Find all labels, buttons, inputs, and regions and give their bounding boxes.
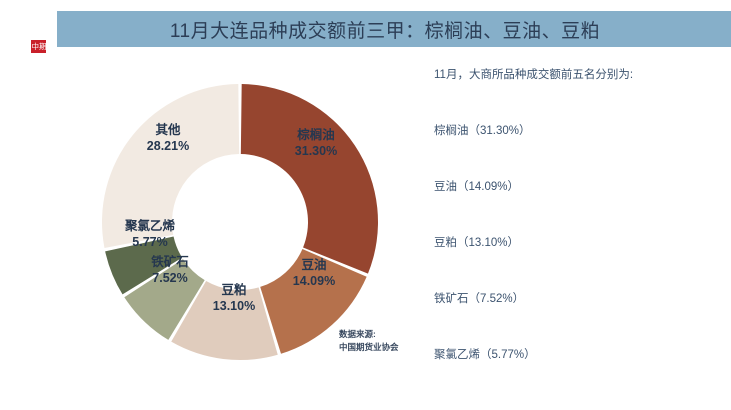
source-note-line1: 数据来源: bbox=[339, 328, 399, 341]
summary-item-pvc: 聚氯乙烯（5.77%） bbox=[434, 346, 714, 362]
donut-chart-svg bbox=[88, 72, 408, 372]
summary-item-iron-ore: 铁矿石（7.52%） bbox=[434, 290, 714, 306]
summary-item-soybean-meal: 豆粕（13.10%） bbox=[434, 234, 714, 250]
donut-slice bbox=[241, 84, 378, 274]
donut-slice-group bbox=[102, 84, 378, 360]
summary-item-soybean-oil: 豆油（14.09%） bbox=[434, 178, 714, 194]
brand-logo-icon: 中期 bbox=[30, 39, 47, 54]
source-note: 数据来源: 中国期货业协会 bbox=[339, 328, 399, 354]
page-title: 11月大连品种成交额前三甲：棕榈油、豆油、豆粕 bbox=[170, 16, 600, 43]
donut-slice bbox=[102, 84, 239, 248]
summary-text-panel: 11月，大商所品种成交额前五名分别为: 棕榈油（31.30%） 豆油（14.09… bbox=[434, 66, 714, 362]
brand-logo-glyphs: 中期 bbox=[31, 43, 46, 50]
summary-intro: 11月，大商所品种成交额前五名分别为: bbox=[434, 66, 714, 82]
donut-chart: 棕榈油 31.30% 豆油 14.09% 豆粕 13.10% 铁矿石 7.52%… bbox=[88, 72, 408, 372]
summary-item-palm-oil: 棕榈油（31.30%） bbox=[434, 122, 714, 138]
source-note-line2: 中国期货业协会 bbox=[339, 341, 399, 354]
page-title-bar: 11月大连品种成交额前三甲：棕榈油、豆油、豆粕 bbox=[57, 11, 731, 47]
